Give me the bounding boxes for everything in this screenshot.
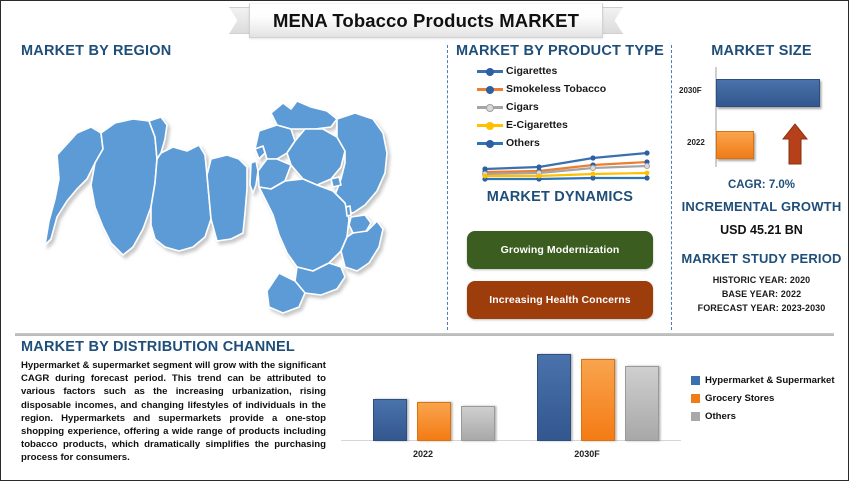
- market-by-product-type-title: MARKET BY PRODUCT TYPE: [449, 43, 671, 59]
- distribution-channel-paragraph: Hypermarket & supermarket segment will g…: [21, 359, 326, 465]
- market-dynamics-title: MARKET DYNAMICS: [449, 189, 671, 205]
- legend-swatch-icon: [691, 394, 700, 403]
- market-dynamics-panel: MARKET DYNAMICS Growing Modernization In…: [449, 187, 671, 331]
- incremental-growth-value: USD 45.21 BN: [673, 223, 849, 237]
- study-period-historic-year: HISTORIC YEAR: 2020: [673, 275, 849, 285]
- legend-marker-line-icon: [477, 65, 503, 77]
- incremental-growth-title: INCREMENTAL GROWTH: [673, 199, 849, 214]
- legend-label: E-Cigarettes: [506, 119, 568, 131]
- market-size-bar-chart: 2030F 2022: [679, 65, 844, 175]
- bar-2030f-hypermarket: [537, 354, 571, 441]
- legend-label: Cigarettes: [506, 65, 557, 77]
- title-box: MENA Tobacco Products MARKET: [249, 3, 603, 38]
- market-size-tick-2022: 2022: [687, 138, 705, 147]
- bar-2022-others: [461, 406, 495, 441]
- market-size-tick-2030f: 2030F: [679, 86, 702, 95]
- legend-item: Cigarettes: [477, 63, 606, 79]
- mena-region-map: [15, 67, 435, 325]
- market-by-region-title: MARKET BY REGION: [21, 43, 171, 59]
- market-size-bar-2022: [716, 131, 754, 159]
- legend-marker-line-icon: [477, 137, 503, 149]
- legend-swatch-icon: [691, 376, 700, 385]
- legend-marker-line-icon: [477, 119, 503, 131]
- study-period-forecast-year: FORECAST YEAR: 2023-2030: [673, 303, 849, 313]
- market-size-bar-2030f: [716, 79, 820, 107]
- cagr-value: CAGR: 7.0%: [673, 179, 849, 191]
- bar-2022-grocery: [417, 402, 451, 441]
- legend-swatch-icon: [691, 412, 700, 421]
- title-ribbon: MENA Tobacco Products MARKET: [229, 3, 623, 36]
- up-arrow-icon: [782, 123, 808, 165]
- legend-label: Others: [506, 137, 540, 149]
- product-type-line-chart: [479, 149, 654, 183]
- infographic-page: MENA Tobacco Products MARKET MARKET BY R…: [0, 0, 849, 481]
- legend-label: Grocery Stores: [705, 393, 774, 404]
- legend-item: Others: [691, 411, 835, 422]
- market-by-distribution-channel-title: MARKET BY DISTRIBUTION CHANNEL: [21, 339, 295, 355]
- legend-label: Smokeless Tobacco: [506, 83, 606, 95]
- legend-item: Smokeless Tobacco: [477, 81, 606, 97]
- bar-2022-hypermarket: [373, 399, 407, 441]
- vertical-divider-right: [671, 45, 672, 330]
- legend-label: Others: [705, 411, 736, 422]
- legend-label: Hypermarket & Supermarket: [705, 375, 835, 386]
- x-tick-2030f: 2030F: [542, 449, 632, 459]
- distribution-channel-legend: Hypermarket & Supermarket Grocery Stores…: [691, 375, 835, 429]
- market-by-region-panel: MARKET BY REGION: [1, 39, 441, 331]
- study-period-base-year: BASE YEAR: 2022: [673, 289, 849, 299]
- legend-marker-line-icon: [477, 101, 503, 113]
- market-size-title: MARKET SIZE: [673, 43, 849, 59]
- distribution-channel-bar-chart: 2022 2030F: [341, 351, 681, 467]
- product-type-legend: Cigarettes Smokeless Tobacco Cigars E-Ci…: [477, 63, 606, 153]
- market-by-distribution-channel-panel: MARKET BY DISTRIBUTION CHANNEL Hypermark…: [1, 337, 849, 480]
- market-by-product-type-panel: MARKET BY PRODUCT TYPE Cigarettes Smokel…: [449, 39, 671, 179]
- dynamics-restraint-card[interactable]: Increasing Health Concerns: [467, 281, 653, 319]
- legend-label: Cigars: [506, 101, 539, 113]
- x-tick-2022: 2022: [378, 449, 468, 459]
- page-title: MENA Tobacco Products MARKET: [273, 10, 579, 32]
- vertical-divider-left: [447, 45, 448, 330]
- market-study-period-title: MARKET STUDY PERIOD: [673, 251, 849, 266]
- horizontal-divider: [15, 333, 834, 336]
- market-size-panel: MARKET SIZE 2030F 2022 CAGR: 7.0% INCREM…: [673, 39, 849, 331]
- dynamics-driver-card[interactable]: Growing Modernization: [467, 231, 653, 269]
- bar-2030f-grocery: [581, 359, 615, 441]
- legend-marker-line-icon: [477, 83, 503, 95]
- legend-item: Cigars: [477, 99, 606, 115]
- legend-item: Hypermarket & Supermarket: [691, 375, 835, 386]
- legend-item: Grocery Stores: [691, 393, 835, 404]
- bar-2030f-others: [625, 366, 659, 441]
- legend-item: E-Cigarettes: [477, 117, 606, 133]
